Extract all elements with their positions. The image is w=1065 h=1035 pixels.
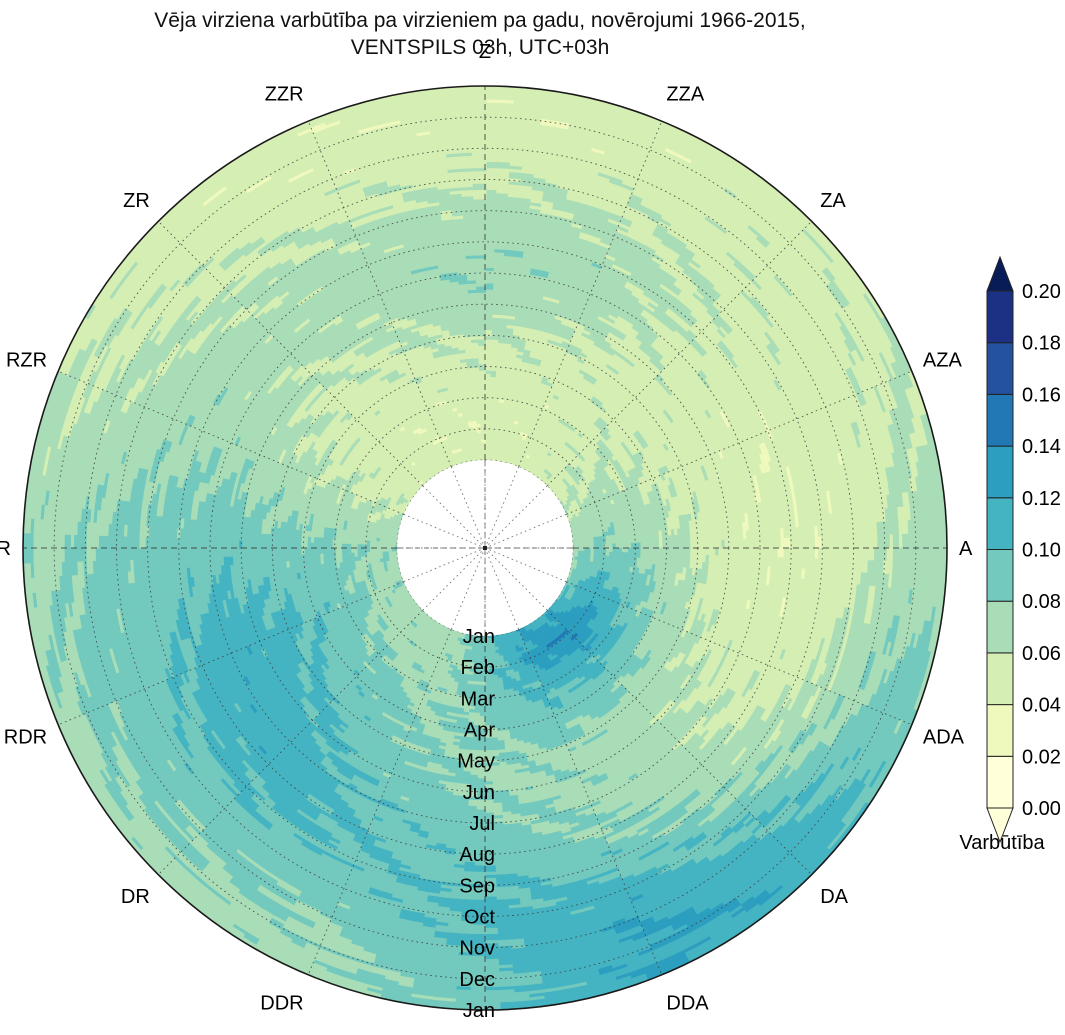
month-label-jul-6: Jul <box>469 813 495 835</box>
direction-label-AZA: AZA <box>923 350 963 372</box>
direction-label-A: A <box>959 538 973 560</box>
direction-label-R: R <box>0 538 11 560</box>
month-label-mar-2: Mar <box>461 688 496 710</box>
month-label-oct-9: Oct <box>464 907 496 929</box>
month-label-jun-5: Jun <box>463 782 495 804</box>
month-label-may-4: May <box>457 751 495 773</box>
colorbar-tick-0.18: 0.18 <box>1022 333 1061 355</box>
month-label-dec-11: Dec <box>459 969 495 991</box>
direction-label-DA: DA <box>820 886 848 908</box>
colorbar-tick-0.06: 0.06 <box>1022 643 1061 665</box>
wind-direction-polar-contour-chart: ZZZAZAAZAAADADADDADDDRDRRDRRRZRZRZZR Jan… <box>0 0 1065 1035</box>
colorbar-band-4[interactable] <box>987 550 1013 602</box>
direction-label-ZZR: ZZR <box>265 84 304 106</box>
colorbar-tick-0.12: 0.12 <box>1022 488 1061 510</box>
direction-label-DR: DR <box>121 886 150 908</box>
colorbar-tick-0.20: 0.20 <box>1022 281 1061 303</box>
colorbar-band-7[interactable] <box>987 394 1013 446</box>
month-label-jan-0: Jan <box>463 626 495 648</box>
month-label-sep-8: Sep <box>459 875 495 897</box>
colorbar-band-3[interactable] <box>987 601 1013 653</box>
colorbar-tick-0.02: 0.02 <box>1022 746 1061 768</box>
direction-label-ZR: ZR <box>123 190 150 212</box>
colorbar-band-2[interactable] <box>987 653 1013 705</box>
direction-label-ZZA: ZZA <box>666 84 704 106</box>
month-label-jan-12: Jan <box>463 1000 495 1022</box>
month-label-apr-3: Apr <box>464 720 495 742</box>
colorbar-band-8[interactable] <box>987 343 1013 395</box>
colorbar-band-0[interactable] <box>987 756 1013 808</box>
colorbar-tick-0.14: 0.14 <box>1022 436 1061 458</box>
colorbar-title: Varbūtība <box>959 832 1045 854</box>
center-dot <box>483 546 487 550</box>
direction-label-DDA: DDA <box>666 993 709 1015</box>
month-label-feb-1: Feb <box>461 657 495 679</box>
colorbar-tick-0.00: 0.00 <box>1022 798 1061 820</box>
direction-label-RZR: RZR <box>6 350 47 372</box>
month-label-aug-7: Aug <box>459 844 495 866</box>
direction-label-DDR: DDR <box>260 993 303 1015</box>
colorbar-tick-0.10: 0.10 <box>1022 540 1061 562</box>
colorbar[interactable]: 0.000.020.040.060.080.100.120.140.160.18… <box>987 257 1061 842</box>
colorbar-band-9[interactable] <box>987 291 1013 343</box>
colorbar-over-cap <box>987 257 1013 291</box>
colorbar-tick-0.16: 0.16 <box>1022 384 1061 406</box>
colorbar-band-5[interactable] <box>987 498 1013 550</box>
colorbar-tick-0.04: 0.04 <box>1022 695 1061 717</box>
direction-label-Z: Z <box>479 41 491 63</box>
colorbar-band-1[interactable] <box>987 705 1013 757</box>
colorbar-tick-0.08: 0.08 <box>1022 591 1061 613</box>
month-label-nov-10: Nov <box>459 938 495 960</box>
direction-label-RDR: RDR <box>4 726 47 748</box>
colorbar-band-6[interactable] <box>987 446 1013 498</box>
direction-label-ADA: ADA <box>923 726 965 748</box>
direction-label-ZA: ZA <box>820 190 846 212</box>
